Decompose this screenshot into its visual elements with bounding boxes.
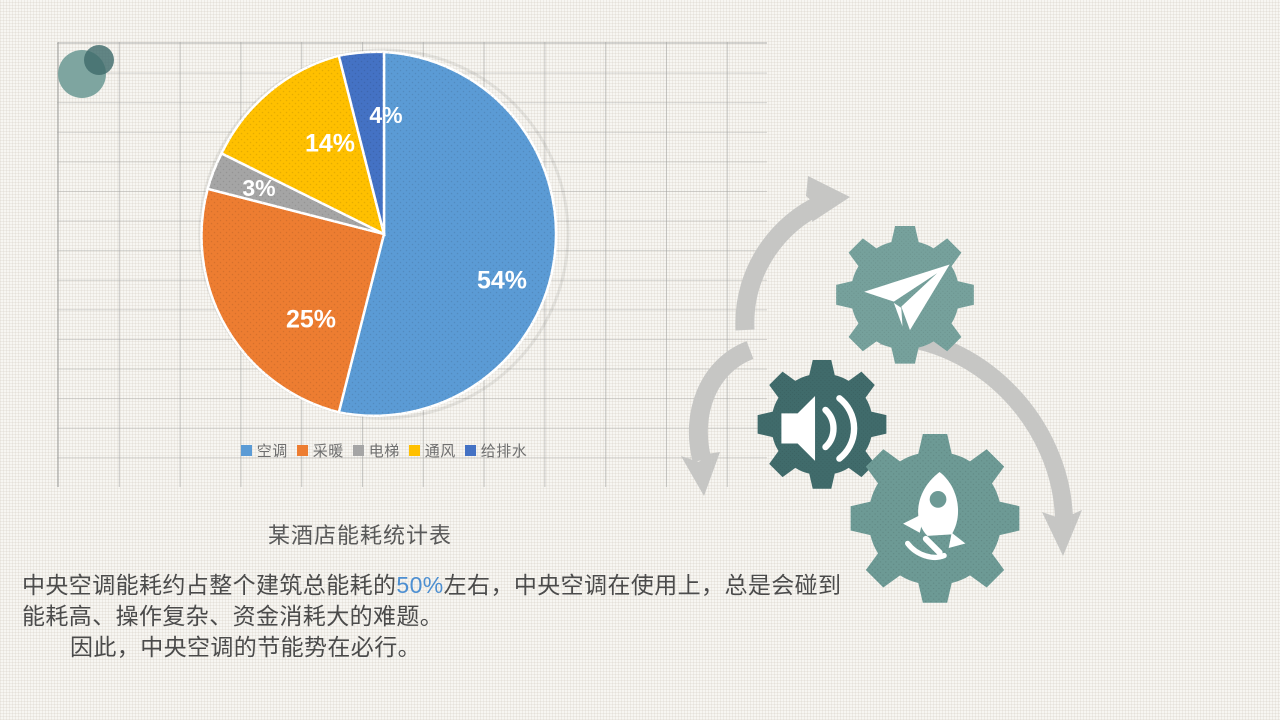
circle-logo-icon bbox=[57, 42, 115, 100]
legend-item-dianti[interactable]: 电梯 bbox=[353, 440, 400, 461]
legend-swatch-dianti bbox=[353, 445, 364, 456]
paragraph-1-highlight: 50% bbox=[396, 572, 443, 598]
slide-canvas: 54% 25% 3% 14% 4% 空调 采暖 电梯 通风 给排水 某酒店 bbox=[0, 0, 1280, 720]
legend-swatch-geipaishui bbox=[465, 445, 476, 456]
legend-label-tongfeng: 通风 bbox=[425, 440, 456, 461]
legend-label-geipaishui: 给排水 bbox=[481, 440, 528, 461]
gears-illustration bbox=[690, 170, 1120, 690]
legend-item-tongfeng[interactable]: 通风 bbox=[409, 440, 456, 461]
pie-label-tongfeng: 14% bbox=[305, 130, 355, 158]
pie-label-dianti: 3% bbox=[242, 175, 275, 201]
legend-label-kongtiao: 空调 bbox=[257, 440, 288, 461]
pie-label-caihuan: 25% bbox=[286, 306, 336, 334]
paragraph-1-before: 中央空调能耗约占整个建筑总能耗的 bbox=[22, 572, 396, 598]
legend-label-caihuan: 采暖 bbox=[313, 440, 344, 461]
legend-swatch-tongfeng bbox=[409, 445, 420, 456]
legend-item-caihuan[interactable]: 采暖 bbox=[297, 440, 344, 461]
chart-title: 某酒店能耗统计表 bbox=[0, 518, 720, 550]
pie-chart-svg: 54% 25% 3% 14% 4% bbox=[198, 48, 570, 420]
gear-rocket bbox=[851, 434, 1020, 603]
arrow-up-curved-icon bbox=[745, 176, 850, 330]
legend-swatch-kongtiao bbox=[241, 445, 252, 456]
gear-speaker bbox=[758, 360, 887, 489]
gears-svg bbox=[690, 170, 1120, 690]
chart-legend: 空调 采暖 电梯 通风 给排水 bbox=[198, 440, 570, 461]
arrow-down-left-curved-icon bbox=[681, 350, 750, 496]
legend-item-geipaishui[interactable]: 给排水 bbox=[465, 440, 528, 461]
pie-chart: 54% 25% 3% 14% 4% bbox=[198, 48, 570, 420]
pie-label-kongtiao: 54% bbox=[477, 267, 527, 295]
legend-label-dianti: 电梯 bbox=[369, 440, 400, 461]
pie-label-geipaishui: 4% bbox=[369, 102, 402, 128]
legend-swatch-caihuan bbox=[297, 445, 308, 456]
gear-paper-plane bbox=[836, 226, 974, 364]
legend-item-kongtiao[interactable]: 空调 bbox=[241, 440, 288, 461]
